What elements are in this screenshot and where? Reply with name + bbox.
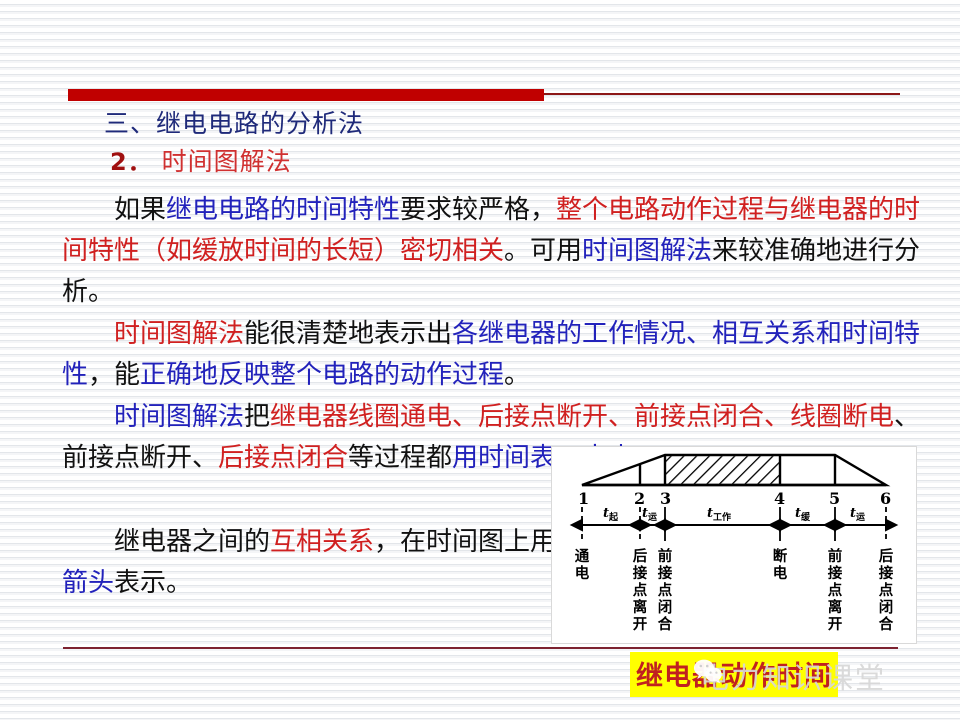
svg-text:点: 点 <box>879 582 894 599</box>
top-red-bar <box>68 89 544 101</box>
relay-timing-svg: 1 2 3 4 5 6 <box>552 447 916 643</box>
figure-marker-4: 4 <box>774 489 785 508</box>
svg-text:接: 接 <box>879 564 894 582</box>
text-run: 。 <box>504 360 530 390</box>
figure-interval-2: t工作 <box>707 506 731 523</box>
svg-text:合: 合 <box>878 615 894 633</box>
subtitle-number: 2． <box>110 148 153 176</box>
svg-text:合: 合 <box>657 615 673 633</box>
svg-text:点: 点 <box>633 582 648 599</box>
figure-event-1: 后接点离开 <box>633 548 648 633</box>
text-run: 时间图解法 <box>114 319 244 349</box>
text-run: ，能 <box>88 360 140 390</box>
figure-event-5: 后接点闭合 <box>878 548 894 633</box>
svg-text:点: 点 <box>658 582 673 599</box>
svg-text:接: 接 <box>633 564 648 582</box>
text-run: 如果 <box>114 195 166 225</box>
figure-event-2: 前接点闭合 <box>657 547 673 633</box>
section-subtitle: 2． 时间图解法 <box>110 142 292 178</box>
svg-text:开: 开 <box>828 616 843 633</box>
svg-text:电: 电 <box>575 564 590 582</box>
svg-text:离: 离 <box>633 598 648 616</box>
svg-text:通: 通 <box>575 548 590 565</box>
figure-interval-4: t运 <box>850 506 866 523</box>
figure-caption: 继电器动作时间 <box>630 652 838 697</box>
paragraph-2: 时间图解法能很清楚地表示出各继电器的工作情况、相互关系和时间特性，能正确地反映整… <box>62 314 942 396</box>
figure-event-0: 通电 <box>575 548 590 582</box>
figure-event-4: 前接点离开 <box>828 547 843 633</box>
svg-text:后: 后 <box>633 548 648 565</box>
svg-text:前: 前 <box>658 547 673 565</box>
text-run: 等过程都 <box>348 443 452 473</box>
text-run: 互相关系 <box>270 527 374 557</box>
subtitle-text: 时间图解法 <box>162 147 292 176</box>
text-run: 后接点闭合 <box>218 443 348 473</box>
text-run: 能很清楚地表示出 <box>244 319 452 349</box>
figure-marker-5: 5 <box>829 489 840 508</box>
page-title: 三、继电电路的分析法 <box>104 104 364 140</box>
svg-text:前: 前 <box>828 547 843 565</box>
paragraph-4: 继电器之间的互相关系，在时间图上用箭头表示。 <box>62 522 562 604</box>
svg-text:接: 接 <box>658 564 673 582</box>
figure-interval-1: t运 <box>642 506 658 523</box>
svg-text:闭: 闭 <box>658 598 673 616</box>
text-run: 要求较严格， <box>400 195 556 225</box>
svg-text:点: 点 <box>828 582 843 599</box>
svg-text:后: 后 <box>879 548 894 565</box>
text-run: 。可用 <box>504 236 582 266</box>
svg-text:断: 断 <box>773 547 788 565</box>
svg-text:闭: 闭 <box>879 598 894 616</box>
svg-text:电: 电 <box>773 564 788 582</box>
slide-canvas: 三、继电电路的分析法 2． 时间图解法 如果继电电路的时间特性要求较严格，整个电… <box>0 0 960 720</box>
svg-text:开: 开 <box>633 616 648 633</box>
svg-text:离: 离 <box>828 598 843 616</box>
text-run: 继电器线圈通电、后接点断开、前接点闭合、线圈断电 <box>270 402 894 432</box>
text-run: 表示。 <box>114 568 192 598</box>
text-run: ，在时间图上用 <box>374 527 556 557</box>
figure-marker-3: 3 <box>660 489 671 508</box>
text-run: 正确地反映整个电路的动作过程 <box>140 360 504 390</box>
figure-marker-6: 6 <box>880 489 891 508</box>
svg-text:接: 接 <box>828 564 843 582</box>
text-run: 继电器之间的 <box>114 527 270 557</box>
text-run: 把 <box>244 402 270 432</box>
figure-interval-0: t起 <box>603 506 619 523</box>
text-run: 箭头 <box>62 568 114 598</box>
bottom-rule <box>63 647 898 649</box>
figure-marker-1: 1 <box>578 489 589 508</box>
text-run: 时间图解法 <box>582 236 712 266</box>
figure-interval-3: t缓 <box>795 506 811 523</box>
figure-event-3: 断电 <box>773 547 788 582</box>
paragraph-1: 如果继电电路的时间特性要求较严格，整个电路动作过程与继电器的时间特性（如缓放时间… <box>62 190 942 313</box>
relay-timing-diagram: 1 2 3 4 5 6 <box>551 446 917 644</box>
text-run: 继电电路的时间特性 <box>166 195 400 225</box>
text-run: 时间图解法 <box>114 402 244 432</box>
